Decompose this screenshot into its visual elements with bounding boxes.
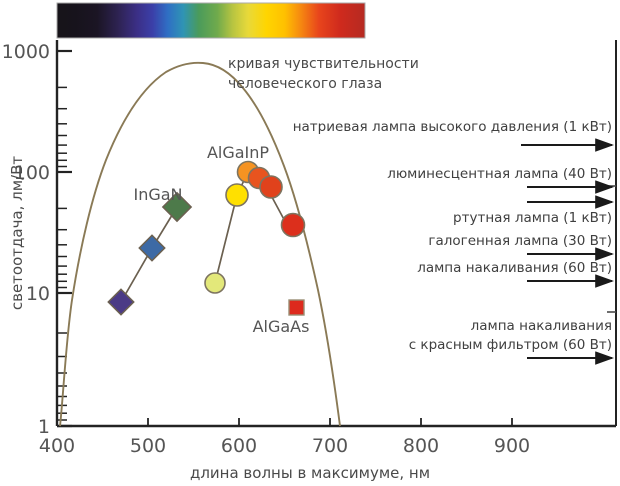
lamp-label-halogen: галогенная лампа (30 Вт) (428, 233, 612, 249)
lamp-label-mercury: ртутная лампа (1 кВт) (453, 210, 612, 226)
x-tick-label-800: 800 (403, 435, 439, 457)
data-point-algainp-597[interactable] (226, 184, 248, 206)
series-label-algaas: AlGaAs (253, 317, 310, 336)
x-tick-label-600: 600 (221, 435, 257, 457)
right-axis-ticks (607, 186, 616, 312)
visible-spectrum-bar (57, 3, 365, 38)
eye-curve-label-line2: человеческого глаза (228, 76, 382, 92)
series-algainp: AlGaInP (205, 143, 305, 293)
x-tick-label-400: 400 (39, 435, 75, 457)
series-algaas: AlGaAs (253, 300, 310, 336)
series-label-ingan: InGaN (133, 185, 182, 204)
chart-svg: 1000 100 10 1 400 500 600 700 800 900 дл… (0, 0, 620, 486)
lamp-label-incandescent-red-filter-line1: лампа накаливания (471, 318, 612, 334)
y-axis-title: светоотдача, лм/Вт (8, 156, 26, 311)
data-point-algainp-627[interactable] (260, 176, 282, 198)
eye-curve-label-line1: кривая чувствительности (228, 56, 419, 72)
chart-figure: 1000 100 10 1 400 500 600 700 800 900 дл… (0, 0, 620, 486)
x-axis-title: длина волны в максимуме, нм (190, 464, 430, 482)
x-tick-label-700: 700 (312, 435, 348, 457)
lamp-label-incandescent: лампа накаливания (60 Вт) (417, 260, 612, 276)
lamp-label-fluorescent: люминесцентная лампа (40 Вт) (387, 166, 612, 182)
series-ingan: InGaN (108, 185, 191, 315)
lamp-label-incandescent-red-filter-line2: с красным фильтром (60 Вт) (409, 337, 612, 353)
lamp-label-sodium-high-pressure: натриевая лампа высокого давления (1 кВт… (293, 119, 612, 135)
y-tick-label-1000: 1000 (2, 41, 50, 63)
photopic-luminosity-curve (60, 63, 340, 426)
series-label-algainp: AlGaInP (207, 143, 269, 162)
x-tick-label-500: 500 (130, 435, 166, 457)
y-tick-label-10: 10 (26, 283, 50, 305)
data-point-algaas-651[interactable] (289, 300, 304, 315)
data-point-ingan-470[interactable] (108, 289, 133, 314)
x-tick-label-900: 900 (494, 435, 530, 457)
data-point-algainp-650[interactable] (282, 214, 305, 237)
data-point-ingan-505[interactable] (139, 235, 164, 260)
data-point-algainp-573[interactable] (205, 273, 225, 293)
